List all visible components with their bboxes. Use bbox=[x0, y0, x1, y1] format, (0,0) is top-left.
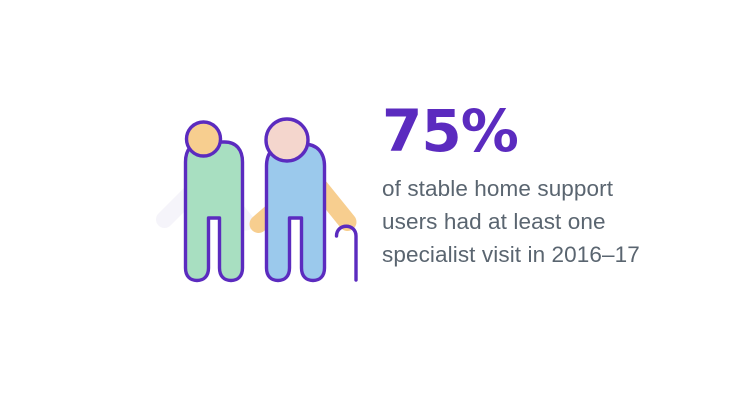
stat-description: of stable home support users had at leas… bbox=[382, 172, 702, 271]
stat-value: 75% bbox=[382, 100, 702, 162]
stat-panel: 75% of stable home support users had at … bbox=[382, 100, 702, 271]
caregiver-body bbox=[186, 142, 243, 281]
recipient-head bbox=[266, 119, 308, 161]
stat-description-line-2: users had at least one bbox=[382, 205, 702, 238]
stat-description-line-1: of stable home support bbox=[382, 172, 702, 205]
walking-cane-icon bbox=[337, 226, 357, 280]
figure-caregiver bbox=[165, 122, 247, 281]
infographic-canvas: 75% of stable home support users had at … bbox=[0, 0, 750, 420]
two-people-illustration-icon bbox=[140, 96, 375, 296]
figure-care-recipient bbox=[259, 119, 357, 281]
caregiver-head bbox=[187, 122, 221, 156]
recipient-body bbox=[267, 144, 325, 281]
stat-description-line-3: specialist visit in 2016–17 bbox=[382, 238, 702, 271]
illustration-panel bbox=[140, 96, 375, 296]
